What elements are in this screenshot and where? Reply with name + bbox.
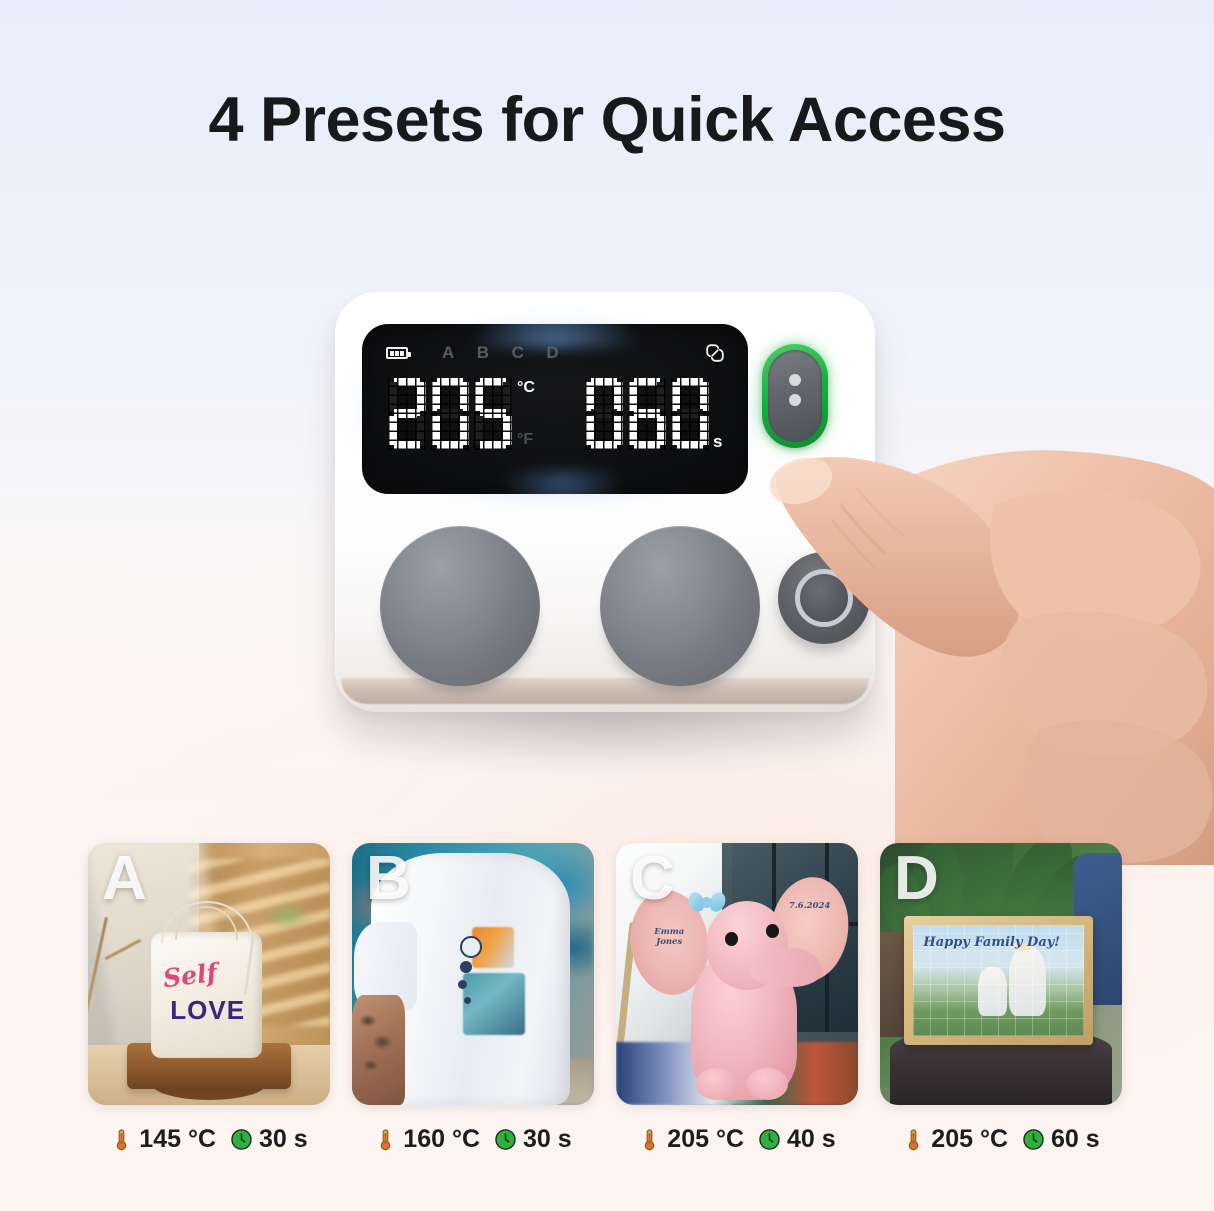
- preset-letter-c: C: [630, 845, 675, 913]
- preset-card-d[interactable]: Happy Family Day! D 205 °C 60: [880, 843, 1122, 1154]
- preset-button-face: [768, 350, 822, 442]
- preset-letter-d: D: [894, 845, 939, 913]
- preset-letter-a: A: [102, 845, 147, 913]
- preset-indicator-a: A: [442, 343, 455, 363]
- preset-indicator-d: D: [546, 343, 559, 363]
- temperature-value: 205 °C: [667, 1125, 744, 1154]
- screen-readouts: °C °F: [388, 378, 728, 474]
- blue-bow: [689, 888, 725, 916]
- preset-image-c: Emma Jones 7.6.2024 C: [616, 843, 858, 1105]
- tshirt-graphic-print: [458, 927, 531, 1048]
- digit-5: [474, 378, 512, 450]
- time-spec: 30 s: [494, 1125, 572, 1154]
- time-spec: 40 s: [758, 1125, 836, 1154]
- digit-6: [628, 378, 666, 450]
- screen-bottom-glow: [501, 472, 625, 494]
- time-readout: s: [585, 378, 722, 452]
- photo-puzzle: Happy Family Day!: [913, 925, 1084, 1035]
- preset-card-a[interactable]: Self LOVE A 145 °C 30 s: [88, 843, 330, 1154]
- wooden-frame: Happy Family Day!: [904, 916, 1093, 1044]
- device-screen: A B C D: [362, 324, 748, 494]
- temperature-spec: 160 °C: [374, 1125, 480, 1154]
- device: A B C D: [300, 270, 940, 770]
- digit-0: [431, 378, 469, 450]
- time-knob[interactable]: [600, 526, 760, 686]
- preset-caption-d: 205 °C 60 s: [880, 1125, 1122, 1154]
- temperature-value: 205 °C: [931, 1125, 1008, 1154]
- temperature-readout: °C °F: [388, 378, 543, 452]
- bag-print-line2: LOVE: [170, 995, 245, 1026]
- knob-cap: [600, 526, 760, 686]
- unit-celsius: °C: [517, 380, 543, 396]
- temperature-digits: [388, 378, 512, 450]
- temperature-value: 145 °C: [139, 1125, 216, 1154]
- preset-button[interactable]: [762, 344, 828, 448]
- digit-2: [388, 378, 426, 450]
- clock-icon: [758, 1128, 781, 1151]
- ear-print-left: Emma Jones: [640, 927, 698, 948]
- thermometer-icon: [638, 1128, 661, 1151]
- temperature-spec: 205 °C: [638, 1125, 744, 1154]
- preset-caption-b: 160 °C 30 s: [352, 1125, 594, 1154]
- thermometer-icon: [374, 1128, 397, 1151]
- temperature-spec: 205 °C: [902, 1125, 1008, 1154]
- tattooed-arm: [354, 1003, 400, 1092]
- preset-image-b: B: [352, 843, 594, 1105]
- preset-caption-a: 145 °C 30 s: [88, 1125, 330, 1154]
- preset-indicator-b: B: [477, 343, 490, 363]
- time-value: 40 s: [787, 1125, 836, 1154]
- temperature-value: 160 °C: [403, 1125, 480, 1154]
- clock-icon: [230, 1128, 253, 1151]
- time-value: 60 s: [1051, 1125, 1100, 1154]
- photo-print-text: Happy Family Day!: [923, 936, 1060, 950]
- knob-cap: [380, 526, 540, 686]
- screen-status-bar: A B C D: [386, 343, 726, 363]
- temperature-knob[interactable]: [380, 526, 540, 686]
- preset-caption-c: 205 °C 40 s: [616, 1125, 858, 1154]
- preset-image-a: Self LOVE A: [88, 843, 330, 1105]
- time-value: 30 s: [523, 1125, 572, 1154]
- device-base-edge: [341, 678, 869, 704]
- unit-seconds: s: [713, 432, 722, 452]
- preset-image-d: Happy Family Day! D: [880, 843, 1122, 1105]
- thermometer-icon: [902, 1128, 925, 1151]
- preset-button-dot-upper: [789, 374, 801, 386]
- battery-icon: [386, 347, 408, 359]
- temperature-units: °C °F: [517, 378, 543, 452]
- preset-card-c[interactable]: Emma Jones 7.6.2024 C 205 °C: [616, 843, 858, 1154]
- link-icon: [704, 342, 726, 364]
- unit-fahrenheit: °F: [517, 432, 543, 448]
- time-spec: 60 s: [1022, 1125, 1100, 1154]
- power-button-ring: [795, 569, 853, 627]
- preset-button-dot-lower: [789, 394, 801, 406]
- clock-icon: [494, 1128, 517, 1151]
- digit-0: [585, 378, 623, 450]
- temperature-spec: 145 °C: [110, 1125, 216, 1154]
- time-value: 30 s: [259, 1125, 308, 1154]
- preset-indicator-c: C: [512, 343, 525, 363]
- power-button[interactable]: [778, 552, 870, 644]
- clock-icon: [1022, 1128, 1045, 1151]
- ear-print-right: 7.6.2024: [778, 901, 841, 912]
- digit-0: [671, 378, 709, 450]
- thermometer-icon: [110, 1128, 133, 1151]
- preset-card-b[interactable]: B 160 °C 30 s: [352, 843, 594, 1154]
- preset-cards: Self LOVE A 145 °C 30 s: [88, 843, 1128, 1154]
- preset-letter-b: B: [366, 845, 411, 913]
- time-digits: [585, 378, 709, 450]
- preset-letter-indicators: A B C D: [442, 343, 559, 363]
- time-spec: 30 s: [230, 1125, 308, 1154]
- page-title: 4 Presets for Quick Access: [0, 86, 1214, 155]
